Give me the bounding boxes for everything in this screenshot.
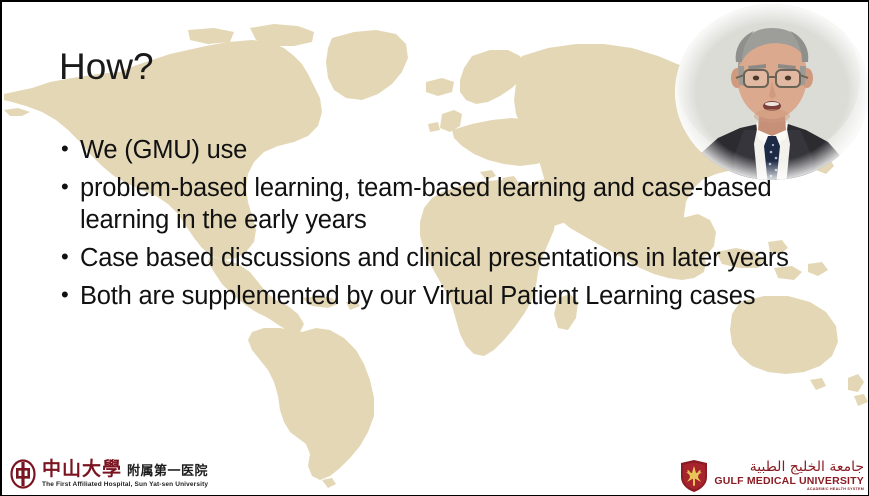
bullet-glyph: • bbox=[61, 134, 69, 163]
logo-left-english-name: The First Affiliated Hospital, Sun Yat-s… bbox=[42, 482, 208, 489]
list-item: • Case based discussions and clinical pr… bbox=[58, 242, 853, 275]
logo-left-chinese-name: 中山大學 bbox=[42, 460, 122, 479]
logo-right-english-name: GULF MEDICAL UNIVERSITY bbox=[714, 476, 864, 487]
university-shield-icon bbox=[679, 460, 709, 492]
bullet-glyph: • bbox=[61, 172, 69, 201]
list-item-text: Both are supplemented by our Virtual Pat… bbox=[80, 280, 853, 313]
page-title: How? bbox=[59, 48, 154, 87]
logo-left-chinese-sub: 附属第一医院 bbox=[127, 465, 208, 478]
hospital-emblem-icon bbox=[10, 459, 36, 489]
list-item-text: Case based discussions and clinical pres… bbox=[80, 242, 853, 275]
gulf-medical-university-logo: جامعة الخليج الطبية GULF MEDICAL UNIVERS… bbox=[679, 460, 864, 492]
presenter-webcam-circle[interactable] bbox=[672, 4, 869, 186]
logo-right-tagline: ACADEMIC HEALTH SYSTEM bbox=[807, 488, 864, 492]
bullet-glyph: • bbox=[61, 242, 69, 271]
bullet-glyph: • bbox=[61, 280, 69, 309]
list-item: • Both are supplemented by our Virtual P… bbox=[58, 280, 853, 313]
logo-right-arabic-name: جامعة الخليج الطبية bbox=[750, 460, 864, 474]
presentation-slide: How? • We (GMU) use • problem-based lear… bbox=[0, 0, 869, 496]
sun-yat-sen-hospital-logo: 中山大學 附属第一医院 The First Affiliated Hospita… bbox=[10, 459, 208, 489]
